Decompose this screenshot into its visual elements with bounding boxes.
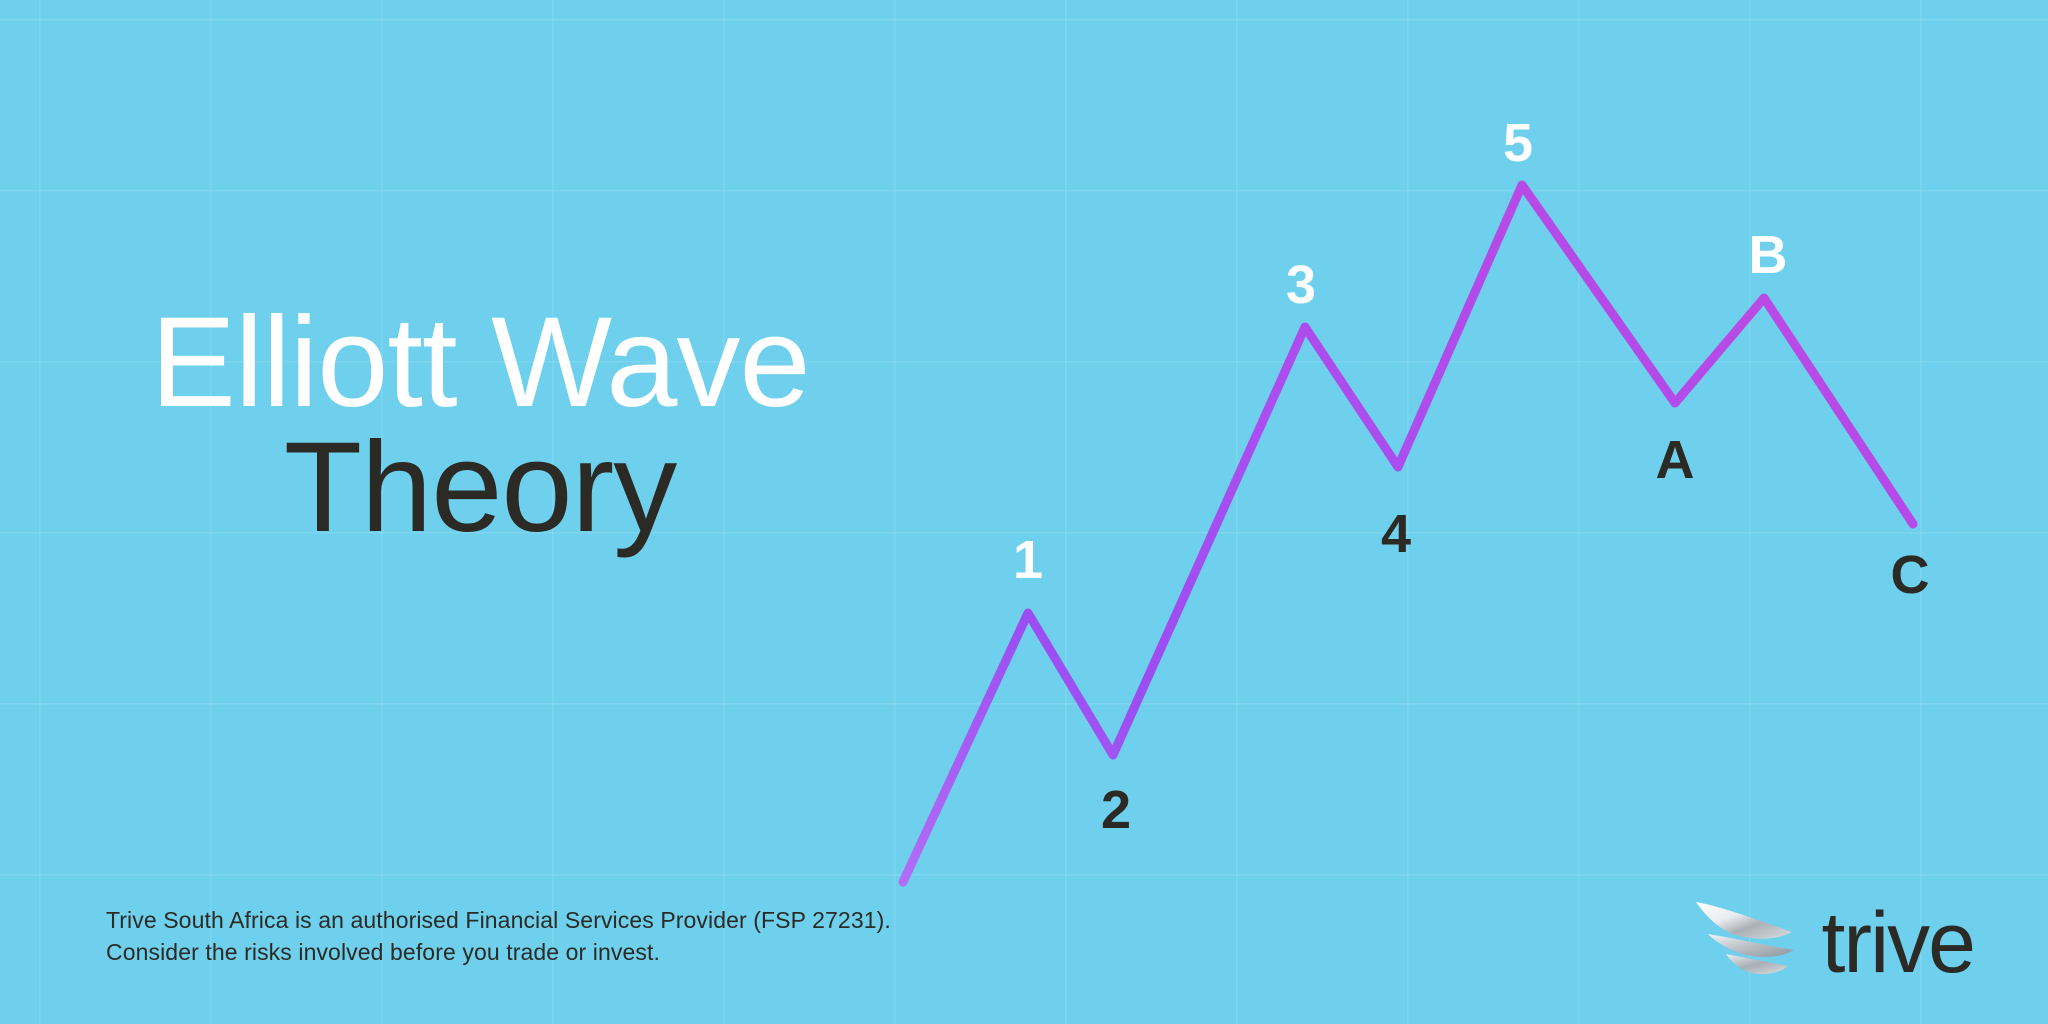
- wave-point-label-c: C: [1891, 548, 1930, 602]
- wave-label-group: 12345ABC: [0, 0, 2048, 1024]
- poster-canvas: Elliott Wave Theory 12345ABC Trive South…: [0, 0, 2048, 1024]
- disclaimer-line-2: Consider the risks involved before you t…: [106, 936, 891, 969]
- wave-point-label-a: A: [1656, 433, 1695, 487]
- wave-point-label-2: 2: [1101, 783, 1131, 837]
- wave-point-label-3: 3: [1286, 258, 1316, 312]
- wave-point-label-5: 5: [1503, 116, 1533, 170]
- brand-lockup: trive: [1694, 896, 1974, 982]
- wing-icon: [1694, 896, 1806, 982]
- disclaimer-text: Trive South Africa is an authorised Fina…: [106, 904, 891, 969]
- wave-point-label-b: B: [1749, 228, 1788, 282]
- brand-wordmark: trive: [1822, 900, 1974, 986]
- wave-point-label-1: 1: [1013, 533, 1043, 587]
- wave-point-label-4: 4: [1381, 507, 1411, 561]
- disclaimer-line-1: Trive South Africa is an authorised Fina…: [106, 904, 891, 937]
